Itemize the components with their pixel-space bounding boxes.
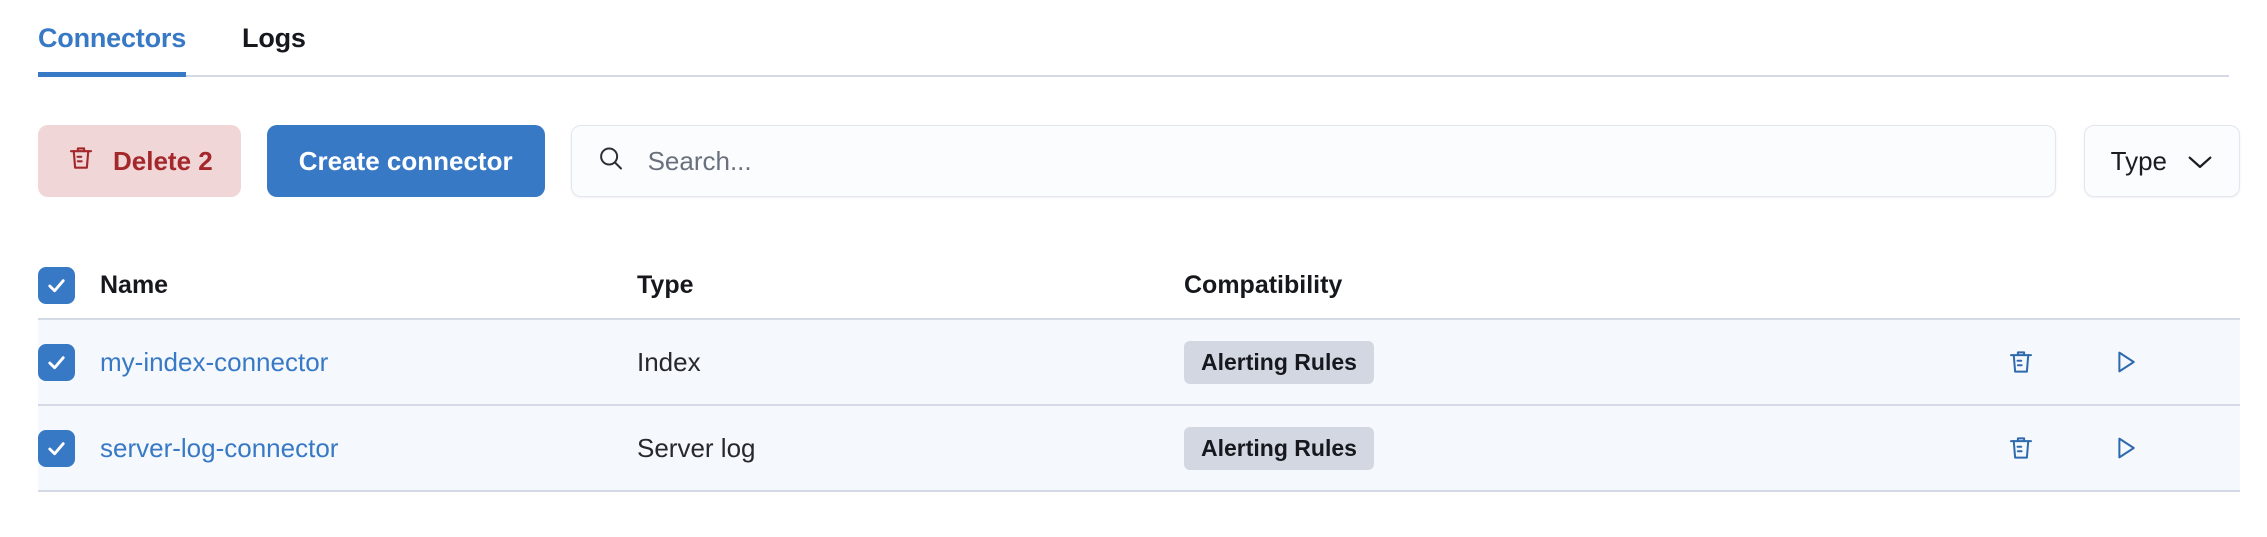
column-header-compatibility[interactable]: Compatibility: [1184, 271, 1960, 300]
connector-name-link[interactable]: my-index-connector: [100, 347, 328, 377]
tab-logs-label: Logs: [242, 23, 306, 54]
connector-name-link[interactable]: server-log-connector: [100, 433, 338, 463]
tab-logs[interactable]: Logs: [242, 0, 306, 77]
row-checkbox[interactable]: [38, 430, 75, 467]
cell-type: Index: [637, 347, 1184, 378]
select-all-cell: [38, 267, 100, 304]
trash-icon: [2006, 432, 2036, 464]
row-run-button[interactable]: [2110, 347, 2140, 377]
tab-list: Connectors Logs: [38, 0, 306, 77]
column-header-type[interactable]: Type: [637, 271, 1184, 300]
select-all-checkbox[interactable]: [38, 267, 75, 304]
row-delete-button[interactable]: [2006, 346, 2036, 378]
cell-actions: [1960, 346, 2240, 378]
search-icon: [596, 144, 626, 179]
cell-name: server-log-connector: [100, 433, 637, 464]
search-box[interactable]: [571, 125, 2056, 197]
tab-connectors-label: Connectors: [38, 23, 186, 54]
column-header-name[interactable]: Name: [100, 271, 637, 300]
type-filter-label: Type: [2111, 146, 2167, 177]
table-header-row: Name Type Compatibility: [38, 252, 2240, 320]
row-checkbox[interactable]: [38, 344, 75, 381]
trash-icon: [66, 142, 96, 181]
table-row: server-log-connector Server log Alerting…: [38, 406, 2240, 492]
trash-icon: [2006, 346, 2036, 378]
cell-type: Server log: [637, 433, 1184, 464]
tabs-divider: [38, 75, 2229, 77]
tabs-bar: Connectors Logs: [0, 0, 2267, 77]
row-select-cell: [38, 430, 100, 467]
toolbar: Delete 2 Create connector Type: [38, 125, 2240, 197]
cell-compatibility: Alerting Rules: [1184, 341, 1960, 384]
create-connector-button[interactable]: Create connector: [267, 125, 545, 197]
search-input[interactable]: [646, 145, 2031, 178]
play-icon: [2110, 433, 2140, 463]
connectors-table: Name Type Compatibility my-index-connect…: [38, 252, 2240, 492]
delete-button[interactable]: Delete 2: [38, 125, 241, 197]
play-icon: [2110, 347, 2140, 377]
compatibility-badge: Alerting Rules: [1184, 427, 1374, 470]
cell-compatibility: Alerting Rules: [1184, 427, 1960, 470]
cell-actions: [1960, 432, 2240, 464]
tab-connectors[interactable]: Connectors: [38, 0, 186, 77]
chevron-down-icon: [2187, 146, 2213, 177]
compatibility-badge: Alerting Rules: [1184, 341, 1374, 384]
row-select-cell: [38, 344, 100, 381]
cell-name: my-index-connector: [100, 347, 637, 378]
row-delete-button[interactable]: [2006, 432, 2036, 464]
type-filter-dropdown[interactable]: Type: [2084, 125, 2240, 197]
delete-button-label: Delete 2: [113, 146, 213, 177]
row-run-button[interactable]: [2110, 433, 2140, 463]
create-connector-label: Create connector: [299, 146, 513, 177]
table-row: my-index-connector Index Alerting Rules: [38, 320, 2240, 406]
